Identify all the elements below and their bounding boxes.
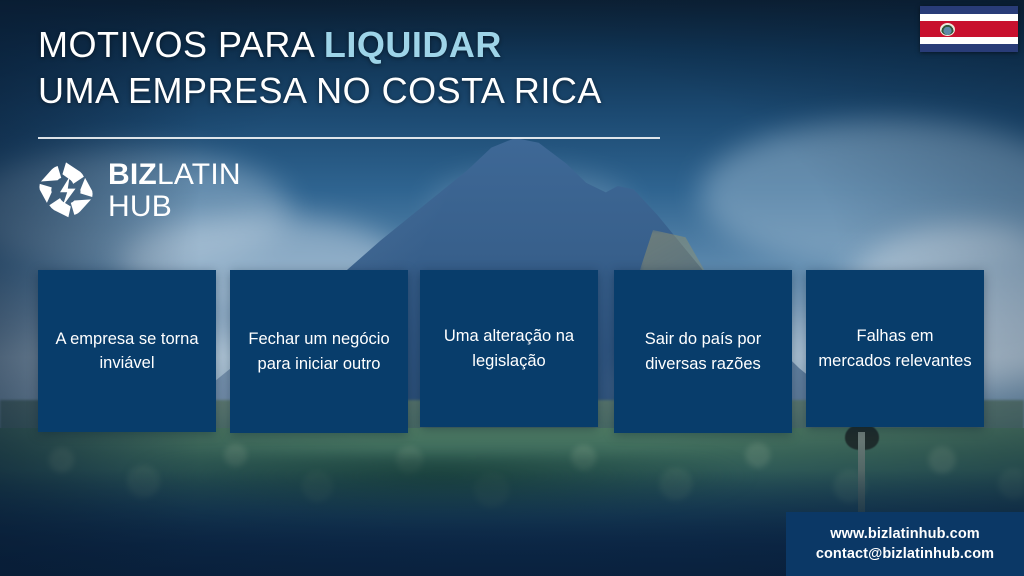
reason-card[interactable]: Sair do país por diversas razões: [614, 270, 792, 433]
reason-card-text: Fechar um negócio para iniciar outro: [230, 327, 408, 376]
infographic-slide: MOTIVOS PARA LIQUIDAR UMA EMPRESA NO COS…: [0, 0, 1024, 576]
reason-card-text: Sair do país por diversas razões: [614, 327, 792, 376]
contact-panel: www.bizlatinhub.com contact@bizlatinhub.…: [786, 512, 1024, 576]
reason-card[interactable]: Uma alteração na legislação: [420, 270, 598, 427]
reason-card-text: Falhas em mercados relevantes: [806, 324, 984, 373]
email-link[interactable]: contact@bizlatinhub.com: [816, 545, 994, 564]
reason-card-text: Uma alteração na legislação: [420, 324, 598, 373]
reason-card-text: A empresa se torna inviável: [38, 327, 216, 376]
reason-card[interactable]: Fechar um negócio para iniciar outro: [230, 270, 408, 433]
website-link[interactable]: www.bizlatinhub.com: [830, 525, 980, 544]
reason-card[interactable]: A empresa se torna inviável: [38, 270, 216, 432]
reason-card[interactable]: Falhas em mercados relevantes: [806, 270, 984, 427]
reasons-card-row: A empresa se torna inviável Fechar um ne…: [0, 0, 1024, 576]
